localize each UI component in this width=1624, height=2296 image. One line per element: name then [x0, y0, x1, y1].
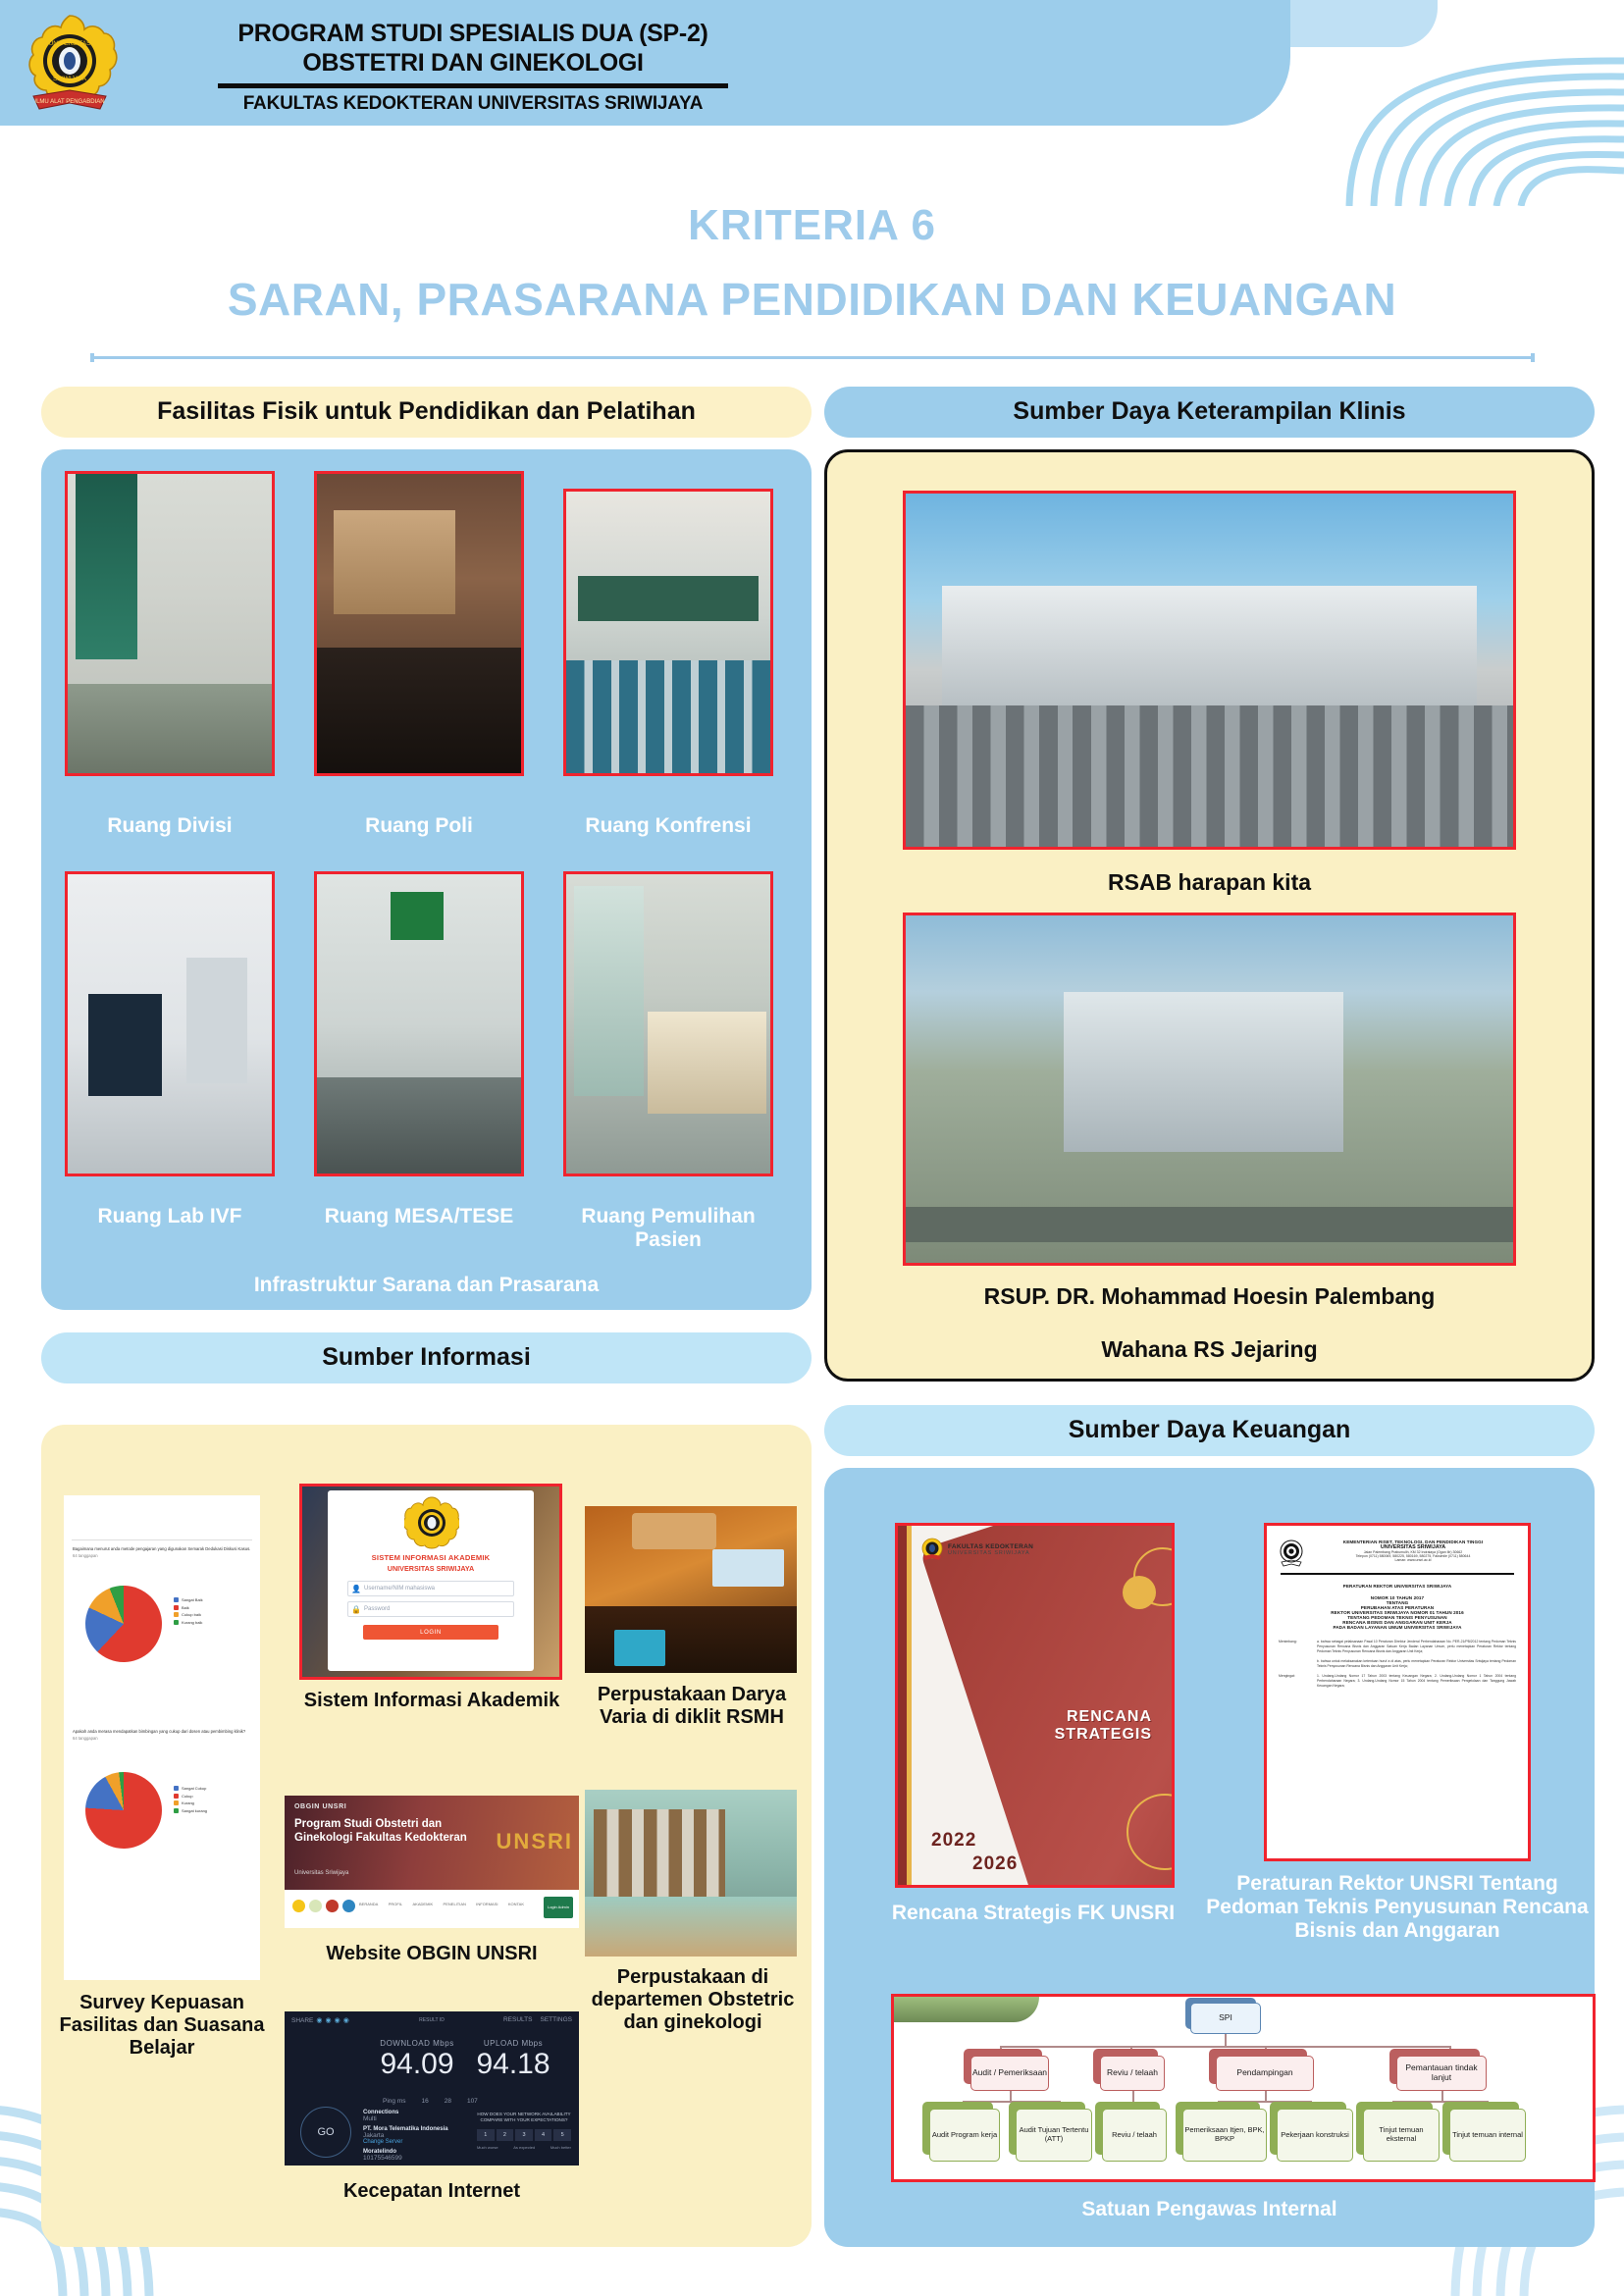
survey-legend-2: Sangat Cukup Cukup Kurang Sangat kurang [174, 1786, 207, 1815]
page-title-kriteria: KRITERIA 6 [0, 201, 1624, 250]
survey-question-2: Apakah anda merasa mendapatkan bimbingan… [73, 1729, 251, 1735]
photo-kecepatan-internet: SHARE ◉ ◉ ◉ ◉ RESULT ID RESULTS SETTINGS… [285, 2011, 579, 2166]
sia-title-line1: SISTEM INFORMASI AKADEMIK [341, 1553, 520, 1562]
speedtest-results-button[interactable]: RESULTS [503, 2016, 533, 2023]
speedtest-scale-3[interactable]: 3 [515, 2129, 533, 2141]
header-line-1: PROGRAM STUDI SPESIALIS DUA (SP-2) [130, 20, 816, 49]
survey-legend-1: Sangat Baik Baik Cukup baik Kurang baik [174, 1597, 203, 1627]
speedtest-scale-mid: As expected [513, 2145, 535, 2150]
caption-ruang-mesa-tese: Ruang MESA/TESE [308, 1205, 530, 1228]
spi-node-pemeriksaan-itjen: Pemeriksaan Itjen, BPK, BPKP [1182, 2109, 1267, 2162]
doc-heading: PERATURAN REKTOR UNIVERSITAS SRIWIJAYA [1279, 1584, 1516, 1589]
photo-rsab-harapan-kita [903, 491, 1516, 850]
spi-node-audit-program-kerja: Audit Program kerja [929, 2109, 1000, 2162]
speedtest-scale-2[interactable]: 2 [497, 2129, 514, 2141]
website-subtitle: Universitas Sriwijaya [294, 1870, 348, 1876]
doc-mengingat-text: 1. Undang-Undang Nomor 17 Tahun 2003 ten… [1317, 1674, 1516, 1689]
caption-ruang-poli: Ruang Poli [314, 814, 524, 838]
svg-text:UNIVERSITAS: UNIVERSITAS [49, 40, 92, 47]
caption-ruang-konfrensi: Ruang Konfrensi [555, 814, 781, 838]
photo-ruang-konfrensi [563, 489, 773, 776]
caption-website-obgin: Website OBGIN UNSRI [285, 1943, 579, 1965]
website-title: Program Studi Obstetri dan Ginekologi Fa… [294, 1817, 476, 1845]
spi-node-reviu-telaah-2: Reviu / telaah [1102, 2109, 1167, 2162]
doc-mengingat-label: Mengingat: [1279, 1674, 1312, 1689]
speedtest-download-value: 94.09 [371, 2048, 463, 2081]
website-nav-item[interactable]: PENELITIAN [444, 1902, 466, 1906]
share-link-icon[interactable]: ◉ [316, 2016, 322, 2024]
photo-rencana-strategis: FAKULTAS KEDOKTERAN UNIVERSITAS SRIWIJAY… [895, 1523, 1175, 1888]
speedtest-ping-download: 28 [445, 2098, 451, 2105]
speedtest-scale-5[interactable]: 5 [553, 2129, 571, 2141]
page-subtitle: SARAN, PRASARANA PENDIDIKAN DAN KEUANGAN [0, 273, 1624, 326]
survey-subnote-1: 64 tanggapan [73, 1553, 251, 1559]
photo-spi-org-chart: SPI Audit / Pemeriksaan Reviu / telaah P… [891, 1994, 1596, 2182]
poster-canvas: UNIVERSITAS SRIWIJAYA ILMU ALAT PENGABDI… [0, 0, 1624, 2296]
speedtest-result-label: RESULT ID [419, 2017, 445, 2023]
partner-logo-icon-4 [342, 1900, 355, 1912]
renstra-title-line1: RENCANA [1055, 1708, 1152, 1726]
header-title-block: PROGRAM STUDI SPESIALIS DUA (SP-2) OBSTE… [130, 20, 816, 115]
caption-ruang-divisi: Ruang Divisi [65, 814, 275, 838]
speedtest-isp-city: Jakarta [363, 2132, 471, 2139]
caption-survey: Survey Kepuasan Fasilitas dan Suasana Be… [54, 1992, 270, 2060]
renstra-fk-line1: FAKULTAS KEDOKTERAN [948, 1543, 1033, 1550]
spi-node-audit-tujuan-tertentu: Audit Tujuan Tertentu (ATT) [1016, 2109, 1092, 2162]
renstra-title-line2: STRATEGIS [1055, 1726, 1152, 1744]
doc-website: Laman: www.unsri.ac.id [1310, 1558, 1516, 1562]
survey-question-1: Bagaimana menurut anda metode pengajaran… [73, 1546, 251, 1552]
photo-ruang-lab-ivf [65, 871, 275, 1176]
survey-pie-2 [85, 1772, 162, 1849]
caption-rsab: RSAB harapan kita [824, 869, 1595, 895]
share-facebook-icon[interactable]: ◉ [335, 2016, 341, 2024]
speedtest-settings-button[interactable]: SETTINGS [540, 2016, 572, 2023]
website-login-button[interactable]: Login Admin [544, 1897, 573, 1918]
survey-pie-1 [85, 1586, 162, 1662]
spi-node-tinjut-eksternal: Tinjut temuan eksternal [1363, 2109, 1440, 2162]
caption-rencana-strategis: Rencana Strategis FK UNSRI [881, 1902, 1185, 1925]
doc-considering-label: Menimbang: [1279, 1640, 1312, 1654]
speedtest-upload-value: 94.18 [467, 2048, 559, 2081]
renstra-year-end: 2026 [972, 1853, 1018, 1875]
speedtest-survey-question: HOW DOES YOUR NETWORK AVAILABILITY COMPA… [477, 2112, 571, 2123]
speedtest-download-label: DOWNLOAD Mbps [371, 2039, 463, 2048]
partner-logo-icon-2 [309, 1900, 322, 1912]
spi-node-pekerjaan-konstruksi: Pekerjaan konstruksi [1277, 2109, 1353, 2162]
header-divider [218, 83, 728, 88]
user-icon: 👤 [348, 1585, 364, 1593]
header-line-3: FAKULTAS KEDOKTERAN UNIVERSITAS SRIWIJAY… [130, 93, 816, 115]
photo-ruang-pemulihan [563, 871, 773, 1176]
speedtest-go-button[interactable]: GO [300, 2107, 351, 2158]
caption-peraturan-rektor: Peraturan Rektor UNSRI Tentang Pedoman T… [1199, 1872, 1596, 1943]
speedtest-scale-4[interactable]: 4 [535, 2129, 552, 2141]
section-heading-keuangan: Sumber Daya Keuangan [824, 1405, 1595, 1456]
speedtest-ping-label: Ping ms [383, 2098, 405, 2105]
spi-node-pemantauan: Pemantauan tindak lanjut [1396, 2056, 1487, 2091]
share-more-icon[interactable]: ◉ [343, 2016, 349, 2024]
speedtest-connections-value: Multi [363, 2115, 471, 2122]
speedtest-share-label: SHARE [291, 2017, 313, 2024]
photo-sistem-informasi-akademik: SISTEM INFORMASI AKADEMIK UNIVERSITAS SR… [299, 1484, 562, 1680]
photo-ruang-divisi [65, 471, 275, 776]
photo-survey-kepuasan: Bagaimana menurut anda metode pengajaran… [64, 1495, 260, 1980]
speedtest-change-server-link[interactable]: Change Server [363, 2139, 471, 2145]
spi-node-pendampingan: Pendampingan [1216, 2056, 1314, 2091]
website-nav-item[interactable]: KONTAK [508, 1902, 524, 1906]
unsri-logo-icon: UNIVERSITAS SRIWIJAYA ILMU ALAT PENGABDI… [22, 10, 118, 116]
caption-perpustakaan-darya-varia: Perpustakaan Darya Varia di diklit RSMH [579, 1684, 805, 1729]
section-heading-klinis: Sumber Daya Keterampilan Klinis [824, 387, 1595, 438]
speedtest-upload-label: UPLOAD Mbps [467, 2039, 559, 2048]
spi-node-reviu-telaah: Reviu / telaah [1100, 2056, 1165, 2091]
speedtest-scale-right: Much better [550, 2145, 571, 2150]
header-line-2: OBSTETRI DAN GINEKOLOGI [130, 49, 816, 78]
partner-logo-icon-1 [292, 1900, 305, 1912]
sia-login-button[interactable]: LOGIN [363, 1625, 498, 1640]
spi-node-root: SPI [1190, 2003, 1261, 2034]
sia-title-line2: UNIVERSITAS SRIWIJAYA [341, 1564, 520, 1573]
section-heading-informasi: Sumber Informasi [41, 1332, 812, 1383]
section-heading-fasilitas: Fasilitas Fisik untuk Pendidikan dan Pel… [41, 387, 812, 438]
doc-considering-text: a. bahwa sebagai pelaksanaan Pasal 10 Pe… [1317, 1640, 1516, 1654]
renstra-fk-line2: UNIVERSITAS SRIWIJAYA [948, 1550, 1033, 1556]
sia-password-input[interactable]: Password [364, 1606, 390, 1612]
photo-perpustakaan-departemen [585, 1790, 797, 1957]
photo-ruang-mesa-tese [314, 871, 524, 1176]
photo-rsup-mohammad-hoesin [903, 913, 1516, 1266]
doc-sub5: PADA BADAN LAYANAN UMUM UNIVERSITAS SRIW… [1279, 1625, 1516, 1630]
caption-wahana-rs: Wahana RS Jejaring [824, 1336, 1595, 1362]
speedtest-ping-upload: 107 [467, 2098, 478, 2105]
photo-ruang-poli [314, 471, 524, 776]
caption-infrastruktur: Infrastruktur Sarana dan Prasarana [41, 1274, 812, 1297]
caption-ruang-pemulihan: Ruang Pemulihan Pasien [561, 1205, 775, 1252]
spi-node-audit-pemeriksaan: Audit / Pemeriksaan [970, 2056, 1049, 2091]
website-nav-item[interactable]: INFORMASI [476, 1902, 498, 1906]
photo-peraturan-rektor: KEMENTERIAN RISET, TEKNOLOGI, DAN PENDID… [1264, 1523, 1531, 1861]
partner-logo-icon-3 [326, 1900, 339, 1912]
title-divider [86, 353, 1539, 362]
caption-perpustakaan-departemen: Perpustakaan di departemen Obstetric dan… [579, 1966, 807, 2034]
sia-username-input[interactable]: Username/NIM mahasiswa [364, 1586, 435, 1592]
caption-ruang-lab-ivf: Ruang Lab IVF [59, 1205, 281, 1228]
caption-kecepatan-internet: Kecepatan Internet [285, 2180, 579, 2203]
caption-rsup: RSUP. DR. Mohammad Hoesin Palembang [824, 1283, 1595, 1309]
caption-sia: Sistem Informasi Akademik [294, 1690, 569, 1712]
share-twitter-icon[interactable]: ◉ [326, 2016, 332, 2024]
renstra-year-start: 2022 [931, 1830, 976, 1852]
photo-website-obgin: UNSRI OBGIN UNSRI Program Studi Obstetri… [285, 1796, 579, 1928]
website-kicker: OBGIN UNSRI [294, 1803, 346, 1810]
speedtest-scale-left: Much worse [477, 2145, 498, 2150]
lock-icon: 🔒 [348, 1605, 364, 1614]
speedtest-scale-1[interactable]: 1 [477, 2129, 495, 2141]
photo-perpustakaan-darya-varia [585, 1506, 797, 1673]
svg-text:SRIWIJAYA: SRIWIJAYA [53, 76, 87, 82]
speedtest-account-id: 10175546599 [363, 2155, 471, 2162]
doc-considering-text2: b. bahwa untuk melaksanakan ketentuan hu… [1317, 1659, 1516, 1669]
speedtest-ping-idle: 16 [421, 2098, 428, 2105]
spi-node-tinjut-internal: Tinjut temuan internal [1449, 2109, 1526, 2162]
survey-subnote-2: 64 tanggapan [73, 1736, 251, 1742]
website-nav-item[interactable]: PROFIL [389, 1902, 402, 1906]
caption-spi: Satuan Pengawas Internal [824, 2198, 1595, 2221]
svg-text:ILMU ALAT PENGABDIAN: ILMU ALAT PENGABDIAN [34, 99, 104, 105]
website-nav-item[interactable]: BERANDA [359, 1902, 378, 1906]
website-nav-item[interactable]: AKADEMIK [413, 1902, 434, 1906]
